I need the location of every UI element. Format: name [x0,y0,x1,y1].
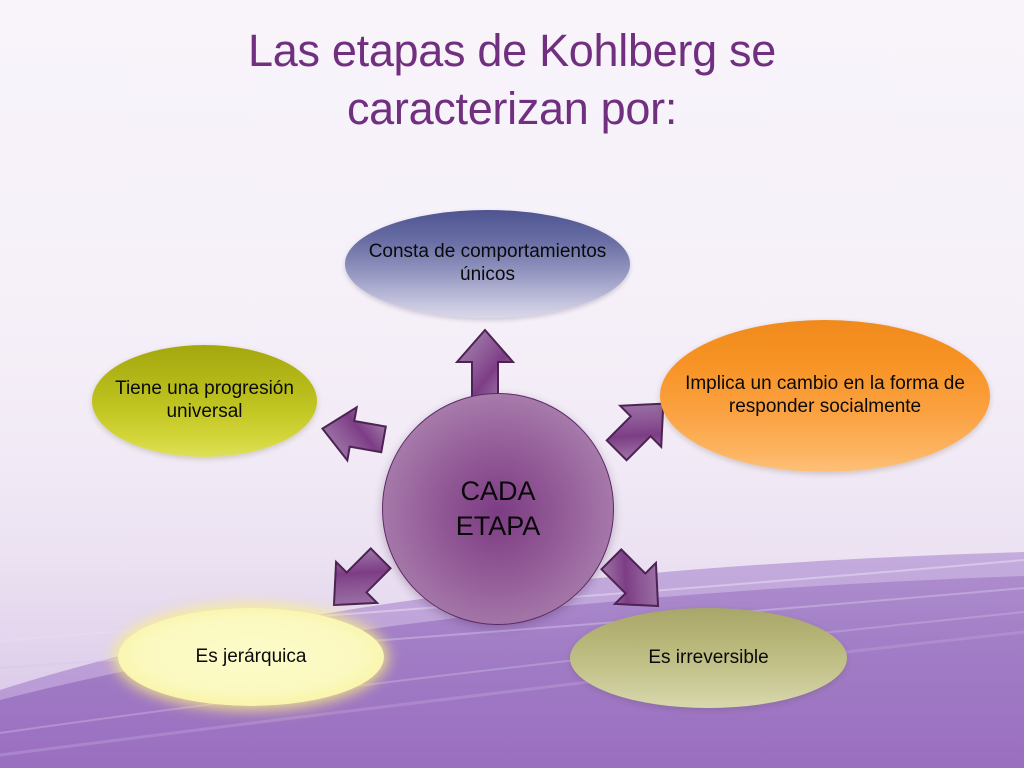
diagram-node-progresion[interactable]: Tiene una progresión universal [92,345,317,457]
slide-canvas: Las etapas de Kohlberg se caracterizan p… [0,0,1024,768]
diagram-node-irreversible-label: Es irreversible [648,647,768,670]
diagram-node-unicos-label: Consta de comportamientos únicos [359,241,616,286]
diagram-node-irreversible[interactable]: Es irreversible [570,608,847,708]
page-title-line-1: Las etapas de Kohlberg se [62,22,962,80]
diagram-node-unicos[interactable]: Consta de comportamientos únicos [345,210,630,318]
diagram-center-label-line-1: CADA [456,474,541,509]
diagram-node-jerarquica-label: Es jerárquica [196,646,307,669]
diagram-node-progresion-label: Tiene una progresión universal [106,378,303,423]
diagram-node-cambio-label: Implica un cambio en la forma de respond… [674,373,976,418]
page-title-line-2: caracterizan por: [62,80,962,138]
arrow-left-icon [316,399,390,469]
diagram-node-jerarquica[interactable]: Es jerárquica [118,608,384,706]
arrow-down-left-icon [318,541,398,621]
diagram-node-cambio[interactable]: Implica un cambio en la forma de respond… [660,320,990,472]
diagram-center-label-line-2: ETAPA [456,509,541,544]
diagram-center-node[interactable]: CADA ETAPA [382,393,614,625]
page-title: Las etapas de Kohlberg se caracterizan p… [62,22,962,137]
